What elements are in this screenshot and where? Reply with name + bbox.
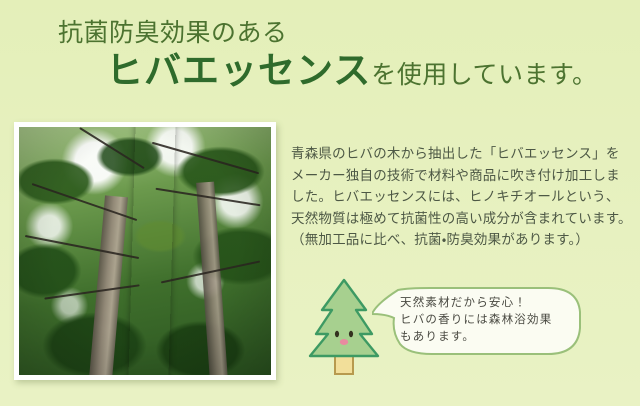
speech-bubble-text: 天然素材だから安心！ ヒバの香りには森林浴効果 もあります。: [400, 295, 576, 346]
promo-banner: 抗菌防臭効果のある ヒバエッセンスを使用しています。 青森県のヒバの木から抽出し…: [0, 0, 640, 406]
body-line: （無加工品に比べ、抗菌・防臭効果があります。）: [291, 229, 633, 251]
body-line: メーカー独自の技術で材料や商品に吹き付け加工しま: [291, 165, 633, 187]
mascot-mouth: [340, 339, 348, 345]
body-copy-block: 青森県のヒバの木から抽出した「ヒバエッセンス」を メーカー独自の技術で材料や商品…: [291, 143, 633, 251]
hiba-tree-photo: [19, 127, 271, 375]
mascot-eye-right: [349, 331, 353, 337]
bubble-line: 天然素材だから安心！: [400, 295, 576, 312]
bubble-line: もあります。: [400, 329, 576, 346]
headline-tail-text: を使用しています。: [371, 62, 597, 89]
hiba-tree-photo-frame: [14, 122, 276, 380]
headline-accent-text: ヒバエッセンス: [106, 51, 371, 92]
body-line: 青森県のヒバの木から抽出した「ヒバエッセンス」を: [291, 143, 633, 165]
photo-vignette: [19, 127, 271, 375]
body-line: 天然物質は極めて抗菌性の高い成分が含まれています。: [291, 208, 633, 230]
headline-line-2: ヒバエッセンスを使用しています。: [0, 50, 640, 101]
mascot-eye-left: [335, 331, 339, 337]
bubble-line: ヒバの香りには森林浴効果: [400, 312, 576, 329]
body-line: した。ヒバエッセンスには、ヒノキチオールという、: [291, 186, 633, 208]
headline-line-1: 抗菌防臭効果のある: [0, 18, 640, 50]
headline-block: 抗菌防臭効果のある ヒバエッセンスを使用しています。: [0, 18, 640, 101]
speech-bubble: 天然素材だから安心！ ヒバの香りには森林浴効果 もあります。: [372, 284, 584, 358]
